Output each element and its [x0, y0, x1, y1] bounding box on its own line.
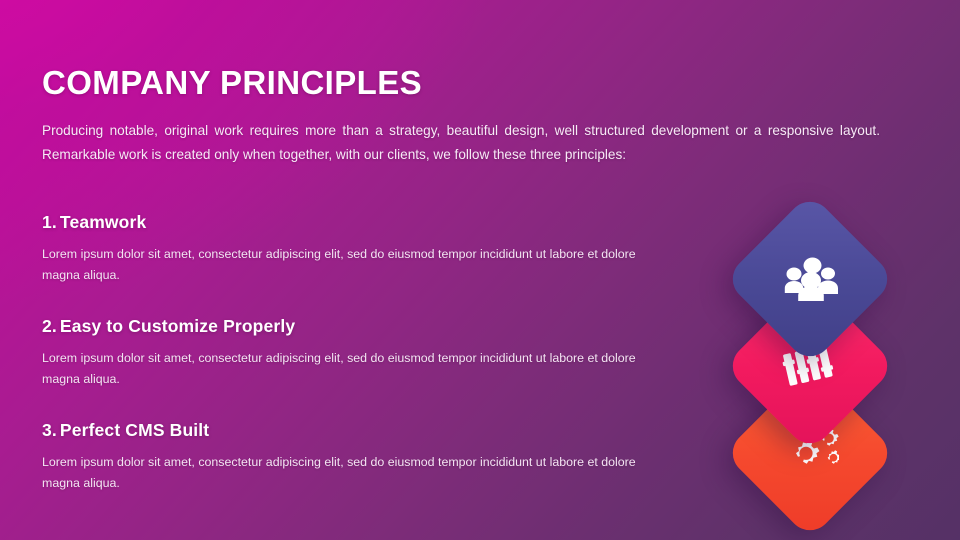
principle-body-3: Lorem ipsum dolor sit amet, consectetur …	[42, 452, 642, 494]
principle-heading-3: 3.Perfect CMS Built	[42, 420, 662, 441]
principle-number-2: 2.	[42, 316, 57, 336]
intro-paragraph: Producing notable, original work require…	[42, 119, 880, 166]
principle-title-2: Easy to Customize Properly	[60, 316, 295, 336]
principle-number-1: 1.	[42, 212, 57, 232]
principle-number-3: 3.	[42, 420, 57, 440]
icon-stack	[700, 218, 930, 518]
principle-heading-2: 2.Easy to Customize Properly	[42, 316, 662, 337]
principle-title-3: Perfect CMS Built	[60, 420, 209, 440]
principle-item-2: 2.Easy to Customize Properly Lorem ipsum…	[42, 316, 662, 390]
text-column: COMPANY PRINCIPLES Producing notable, or…	[42, 0, 722, 540]
page-title: COMPANY PRINCIPLES	[42, 66, 422, 101]
people-group-icon	[781, 256, 839, 302]
principle-title-1: Teamwork	[60, 212, 146, 232]
principle-heading-1: 1.Teamwork	[42, 212, 662, 233]
principle-body-2: Lorem ipsum dolor sit amet, consectetur …	[42, 348, 642, 390]
principle-item-3: 3.Perfect CMS Built Lorem ipsum dolor si…	[42, 420, 662, 494]
principle-item-1: 1.Teamwork Lorem ipsum dolor sit amet, c…	[42, 212, 662, 286]
principle-body-1: Lorem ipsum dolor sit amet, consectetur …	[42, 244, 642, 286]
slide-canvas: COMPANY PRINCIPLES Producing notable, or…	[0, 0, 960, 540]
principles-list: 1.Teamwork Lorem ipsum dolor sit amet, c…	[42, 212, 662, 494]
